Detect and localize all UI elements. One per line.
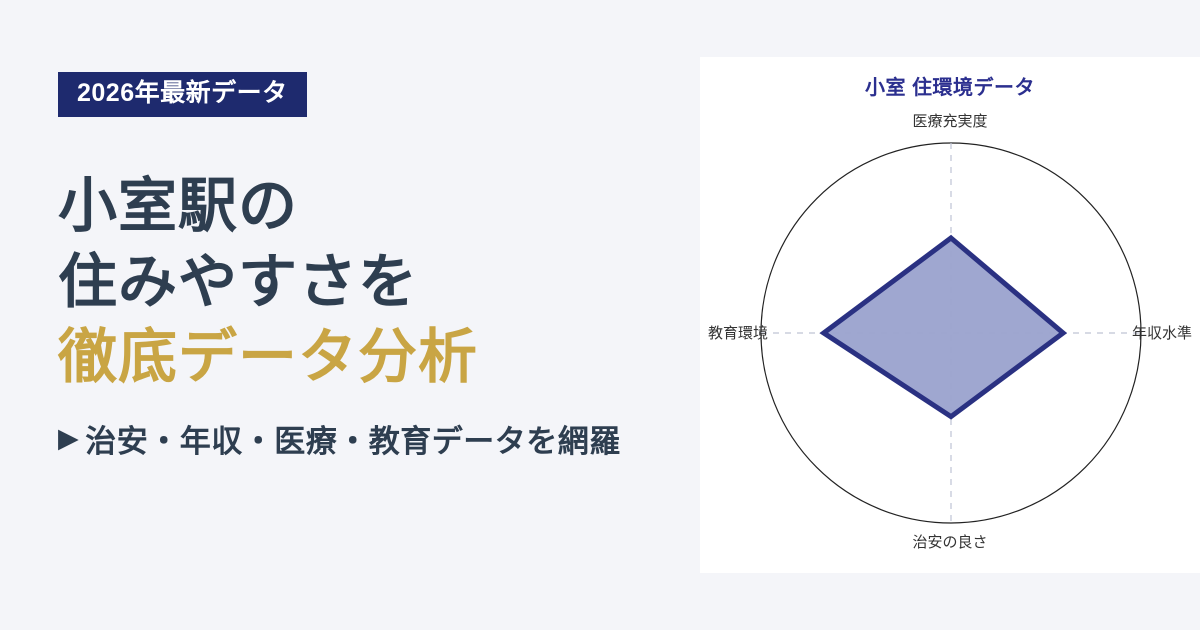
headline-line-2: 住みやすさを xyxy=(58,245,700,321)
status-badge: 2026年最新データ xyxy=(58,72,307,117)
radar-axis-label-top: 医療充実度 xyxy=(700,110,1200,131)
radar-axis-label-right: 年収水準 xyxy=(1132,322,1192,343)
radar-data-polygon xyxy=(824,238,1063,417)
page-title: 小室駅の 住みやすさを 徹底データ分析 xyxy=(58,169,700,396)
headline-line-3: 徹底データ分析 xyxy=(58,320,700,396)
radar-axis-label-left: 教育環境 xyxy=(708,322,768,343)
headline-line-1: 小室駅の xyxy=(58,169,700,245)
radar-axis-label-bottom: 治安の良さ xyxy=(700,531,1200,552)
triangle-marker-icon: ▶ xyxy=(58,425,79,452)
hero-text-panel: 2026年最新データ 小室駅の 住みやすさを 徹底データ分析 ▶ 治安・年収・医… xyxy=(0,0,700,630)
subtitle-text: 治安・年収・医療・教育データを網羅 xyxy=(85,416,621,461)
radar-chart-svg xyxy=(700,57,1200,573)
subtitle: ▶ 治安・年収・医療・教育データを網羅 xyxy=(58,416,700,461)
radar-chart-card: 小室 住環境データ 医療充実度 年収水準 治安の良さ 教育環境 xyxy=(700,57,1200,573)
